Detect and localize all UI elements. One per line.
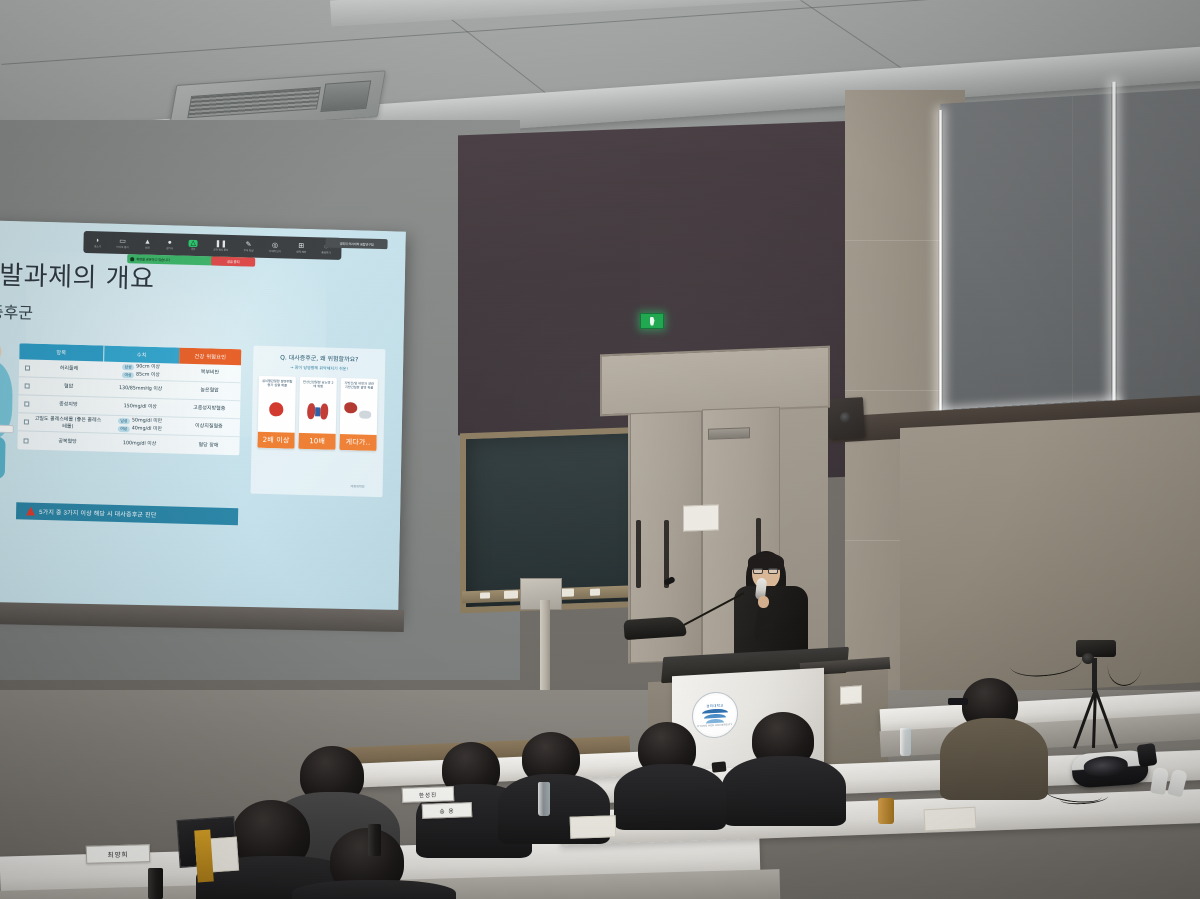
nameplate-label: 송 용: [439, 806, 454, 815]
wall-outlet[interactable]: [840, 685, 862, 705]
zoom-pause-share-button[interactable]: ❚❚ 공유 일시 중지: [213, 240, 228, 251]
row-value: 150mg/dl 이상: [102, 403, 178, 412]
tripod-column: [1092, 658, 1097, 692]
row-checkbox[interactable]: [19, 365, 35, 370]
row-risk-label: 높은혈압: [179, 387, 241, 395]
zoom-mute-label: 음소거: [94, 245, 101, 248]
exit-running-man-icon: [640, 313, 664, 329]
zoom-host-badge: 경희대 의과대학 융합연구팀: [325, 238, 387, 250]
nameplate: 최양희: [86, 844, 150, 864]
audience-body: [940, 718, 1048, 800]
door-transom-window: [600, 346, 830, 417]
university-logo-subname: KYUNG HEE UNIVERSITY: [697, 723, 732, 728]
tripod-leg: [1094, 689, 1118, 748]
camera-icon: ▭: [119, 237, 126, 244]
value-line: 90cm 이상: [136, 363, 160, 371]
document-sheet: [923, 807, 976, 832]
remote-control-icon: ⊞: [298, 242, 304, 249]
kidney-icon: [299, 393, 337, 434]
column-header-value: 수치: [103, 346, 179, 364]
zoom-share-label: 공유: [191, 247, 196, 250]
projection-screen: ◗ 음소거 ▭ 비디오 중지 ▲ 보안 ● 참가자 △ 공유 ❚❚ 공유 일시 …: [0, 220, 406, 619]
card-badge: 10배: [298, 433, 335, 450]
share-screen-icon: △: [189, 239, 199, 246]
infographic-card: 만성신장질환 당뇨병 2배 위험 10배: [298, 377, 336, 450]
zoom-annotate-button[interactable]: ✎ 주석 작성: [244, 241, 254, 252]
column-header-item: 항목: [19, 343, 103, 361]
presenter-hand: [758, 596, 769, 608]
nameplate-label: 최양희: [107, 849, 128, 860]
audience-body: [722, 756, 846, 826]
water-bottle: [900, 728, 911, 756]
pill-female: 여성: [118, 425, 130, 431]
risk-infographic-panel: Q. 대사증후군, 왜 위험할까요? → 장이 당영향제 위악해지기 쉬운! 심…: [251, 346, 386, 498]
row-checkbox[interactable]: [18, 401, 34, 406]
value-line: 85cm 이상: [136, 371, 160, 379]
row-item-label: 공복혈당: [33, 437, 101, 445]
nameplate: 한성진: [402, 786, 454, 803]
logo-wave-icon: [702, 708, 728, 713]
zoom-video-label: 비디오 중지: [116, 245, 128, 248]
nameplate-label: 한성진: [419, 790, 437, 799]
annotate-icon: ✎: [246, 241, 252, 248]
zoom-participants-label: 참가자: [166, 247, 173, 250]
zoom-share-screen-button[interactable]: △ 공유: [188, 239, 198, 250]
light-leak-center: [1111, 82, 1117, 418]
zoom-remote-control-button[interactable]: ⊞ 원격 제어: [296, 242, 306, 253]
value-line: 50mg/dl 미만: [132, 417, 162, 425]
more-icon: ◎: [272, 242, 278, 249]
row-item-label: 고밀도 콜레스테롤 (좋은 콜레스테롤): [34, 416, 102, 431]
infographic-answer: → 장이 당영향제 위악해지기 쉬운!: [253, 364, 385, 374]
infographic-card: 지방간/암 비만과 연관 지방간질환 발병 확률 게다가..: [339, 378, 377, 451]
value-line: 40mg/dl 미만: [132, 425, 162, 433]
camcorder-icon: [1076, 640, 1116, 657]
light-leak-left: [938, 110, 943, 422]
water-bottle: [538, 782, 550, 816]
lecture-hall-photo: ◗ 음소거 ▭ 비디오 중지 ▲ 보안 ● 참가자 △ 공유 ❚❚ 공유 일시 …: [0, 0, 1200, 899]
infographic-card: 심뇌혈관질환 발병위험 증가 심혈 확률 2배 이상: [257, 376, 295, 449]
row-checkbox[interactable]: [19, 383, 35, 388]
heart-icon: [258, 392, 296, 433]
camera-tripod: [1052, 640, 1142, 760]
diagnosis-banner-label: 5가지 중 3가지 이상 해당 시 대사증후군 진단: [39, 507, 157, 519]
row-value: 남성50mg/dl 미만 여성40mg/dl 미만: [102, 417, 178, 434]
value-line: 130/85mmHg 이상: [119, 385, 162, 393]
pill-male: 남성: [122, 364, 134, 370]
participants-icon: ●: [168, 239, 172, 246]
zoom-remote-label: 원격 제어: [296, 250, 306, 253]
audience-body: [292, 880, 456, 899]
coffee-bottle: [368, 824, 381, 856]
pill-female: 여성: [122, 372, 134, 378]
row-value: 남성90cm 이상 여성85cm 이상: [103, 363, 179, 380]
value-line: 150mg/dl 이상: [124, 403, 157, 411]
university-logo-name: 경희대학교: [706, 703, 724, 709]
card-badge: 게다가..: [339, 434, 376, 451]
nameplate: 송 용: [422, 802, 472, 819]
zoom-security-label: 보안: [145, 246, 150, 249]
ac-grille: [187, 87, 321, 118]
row-risk-label: 고중성지방혈증: [178, 405, 240, 413]
zoom-pause-label: 공유 일시 중지: [213, 248, 228, 251]
card-caption: 만성신장질환 당뇨병 2배 위험: [300, 377, 337, 394]
column-header-risk: 건강 위험요인: [179, 348, 241, 366]
security-icon: ▲: [144, 238, 151, 245]
row-value: 100mg/dl 이상: [101, 439, 177, 448]
row-checkbox[interactable]: [18, 438, 34, 443]
zoom-participants-button[interactable]: ● 참가자: [166, 239, 173, 250]
row-value: 130/85mmHg 이상: [103, 385, 179, 394]
speaker-cone: [840, 412, 852, 424]
pause-icon: ❚❚: [215, 240, 227, 247]
beverage-can: [878, 798, 894, 824]
wall-speaker: [827, 397, 865, 439]
row-risk-label: 혈당 장애: [177, 441, 239, 449]
infographic-card-list: 심뇌혈관질환 발병위험 증가 심혈 확률 2배 이상 만성신장질환 당뇨병 2배…: [257, 376, 378, 451]
vr-visor: [1083, 755, 1128, 778]
glasses-icon: [948, 698, 968, 705]
infographic-question: Q. 대사증후군, 왜 위험할까요?: [253, 352, 385, 365]
row-risk-label: 이상지질혈증: [178, 423, 240, 431]
host-badge-label: 경희대 의과대학 융합연구팀: [339, 240, 373, 246]
logo-wave-icon: [704, 713, 726, 718]
liver-icon: [340, 394, 378, 435]
pill-male: 남성: [118, 417, 130, 423]
zoom-more-button[interactable]: ◎ 자세히 보기: [269, 241, 281, 252]
microphone-icon: ◗: [96, 237, 100, 244]
row-item-label: 중성지방: [34, 401, 102, 409]
card-badge: 2배 이상: [257, 432, 294, 449]
document-sheet: [570, 815, 617, 839]
door-notice-sheet: [683, 504, 719, 531]
infographic-logo: 대한의학회: [351, 484, 365, 488]
ac-vane: [320, 80, 371, 112]
zoom-security-button[interactable]: ▲ 보안: [144, 238, 151, 249]
coffee-bottle: [148, 868, 163, 899]
door-handle-left[interactable]: [636, 520, 641, 588]
row-item-label: 혈압: [35, 383, 103, 391]
warning-triangle-icon: [26, 507, 35, 516]
vr-controller-dark: [1137, 743, 1158, 767]
zoom-more-label: 자세히 보기: [269, 249, 281, 252]
glasses-icon: [753, 568, 779, 574]
zoom-mute-button[interactable]: ◗ 음소거: [94, 237, 101, 248]
zoom-end-label: 종료하기: [321, 251, 330, 254]
card-caption: 지방간/암 비만과 연관 지방간질환 발병 확률: [341, 378, 378, 395]
exit-man-glyph: [650, 317, 655, 326]
smartphone[interactable]: [712, 761, 727, 772]
door-closer: [708, 427, 750, 439]
zoom-annotate-label: 주석 작성: [244, 249, 254, 252]
row-item-label: 허리둘레: [35, 365, 103, 373]
audience-body: [614, 764, 726, 830]
metabolic-criteria-table: 항목 수치 건강 위험요인 허리둘레 남성90cm 이상 여성85cm 이상 복…: [17, 343, 241, 455]
value-line: 100mg/dl 이상: [123, 440, 156, 448]
card-caption: 심뇌혈관질환 발병위험 증가 심혈 확률: [259, 376, 296, 393]
row-checkbox[interactable]: [18, 419, 34, 424]
row-risk-label: 복부비만: [179, 369, 241, 377]
zoom-video-button[interactable]: ▭ 비디오 중지: [116, 237, 128, 248]
tripod-leg: [1092, 690, 1097, 748]
